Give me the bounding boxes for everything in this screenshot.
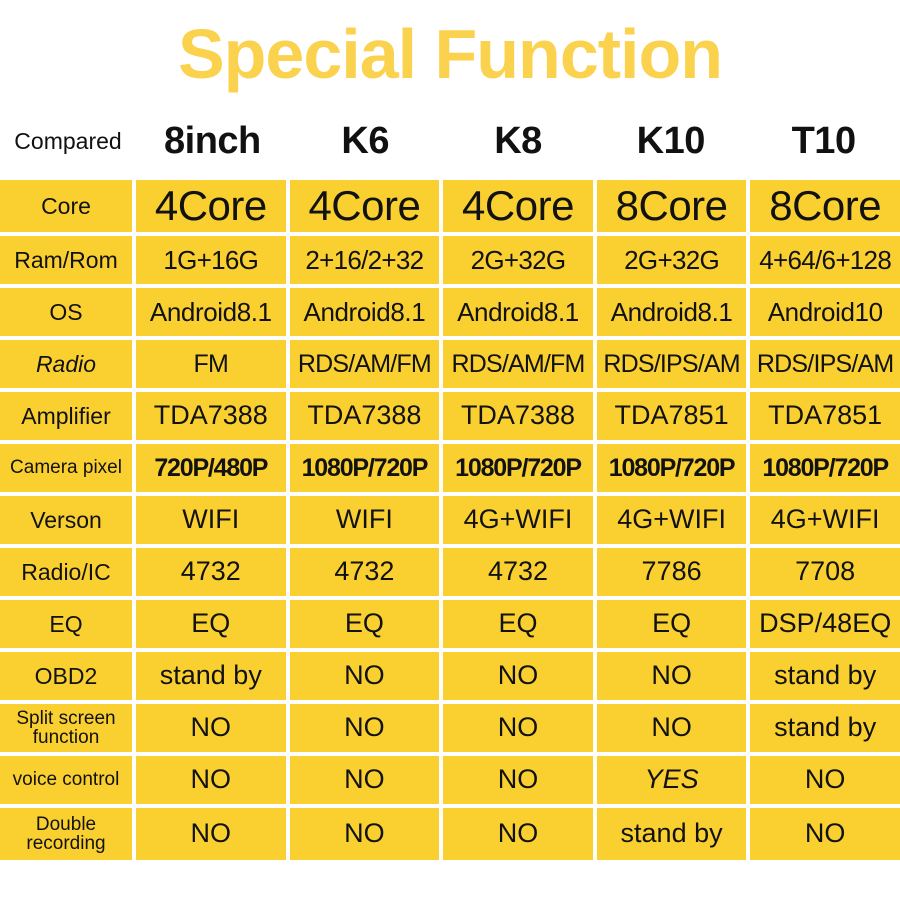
cell-camera-k8: 1080P/720P	[443, 444, 597, 492]
table-row: Core 4Core 4Core 4Core 8Core 8Core	[0, 180, 900, 236]
table-row: Amplifier TDA7388 TDA7388 TDA7388 TDA785…	[0, 392, 900, 444]
cell-camera-k10: 1080P/720P	[597, 444, 751, 492]
cell-doublerec-t10: NO	[750, 808, 900, 860]
cell-os-k8: Android8.1	[443, 288, 597, 336]
table-row: Camera pixel 720P/480P 1080P/720P 1080P/…	[0, 444, 900, 496]
cell-splitscreen-k6: NO	[290, 704, 444, 752]
cell-radioic-k10: 7786	[597, 548, 751, 596]
cell-eq-t10: DSP/48EQ	[750, 600, 900, 648]
table-row: EQ EQ EQ EQ EQ DSP/48EQ	[0, 600, 900, 652]
row-label-obd2: OBD2	[0, 652, 136, 700]
cell-splitscreen-8inch: NO	[136, 704, 290, 752]
cell-amplifier-k10: TDA7851	[597, 392, 751, 440]
row-label-ram-rom: Ram/Rom	[0, 236, 136, 284]
table-row: Verson WIFI WIFI 4G+WIFI 4G+WIFI 4G+WIFI	[0, 496, 900, 548]
cell-verson-k6: WIFI	[290, 496, 444, 544]
cell-voice-t10: NO	[750, 756, 900, 804]
table-header-row: Compared 8inch K6 K8 K10 T10	[0, 108, 900, 180]
cell-radioic-8inch: 4732	[136, 548, 290, 596]
cell-radio-k10: RDS/IPS/AM	[597, 340, 751, 388]
page-title-bar: Special Function	[0, 0, 900, 108]
cell-core-t10: 8Core	[750, 180, 900, 232]
cell-os-8inch: Android8.1	[136, 288, 290, 336]
cell-voice-k10: YES	[597, 756, 751, 804]
cell-core-k6: 4Core	[290, 180, 444, 232]
table-row: OBD2 stand by NO NO NO stand by	[0, 652, 900, 704]
cell-eq-k6: EQ	[290, 600, 444, 648]
special-function-comparison-page: Special Function Compared 8inch K6 K8 K1…	[0, 0, 900, 900]
cell-verson-k10: 4G+WIFI	[597, 496, 751, 544]
table-row: OS Android8.1 Android8.1 Android8.1 Andr…	[0, 288, 900, 340]
cell-ram-k10: 2G+32G	[597, 236, 751, 284]
row-label-amplifier: Amplifier	[0, 392, 136, 440]
row-label-split-screen-function: Split screen function	[0, 704, 136, 752]
row-label-os: OS	[0, 288, 136, 336]
cell-obd2-k8: NO	[443, 652, 597, 700]
cell-amplifier-k8: TDA7388	[443, 392, 597, 440]
cell-voice-k6: NO	[290, 756, 444, 804]
header-compared-label: Compared	[0, 108, 136, 180]
cell-ram-k8: 2G+32G	[443, 236, 597, 284]
table-row: Ram/Rom 1G+16G 2+16/2+32 2G+32G 2G+32G 4…	[0, 236, 900, 288]
row-label-core: Core	[0, 180, 136, 232]
cell-obd2-k10: NO	[597, 652, 751, 700]
cell-radio-k6: RDS/AM/FM	[290, 340, 444, 388]
row-label-radio: Radio	[0, 340, 136, 388]
cell-core-k8: 4Core	[443, 180, 597, 232]
cell-amplifier-8inch: TDA7388	[136, 392, 290, 440]
cell-radioic-k6: 4732	[290, 548, 444, 596]
row-label-line2: function	[16, 728, 115, 747]
cell-os-k10: Android8.1	[597, 288, 751, 336]
cell-ram-k6: 2+16/2+32	[290, 236, 444, 284]
table-row: Radio FM RDS/AM/FM RDS/AM/FM RDS/IPS/AM …	[0, 340, 900, 392]
cell-os-k6: Android8.1	[290, 288, 444, 336]
cell-doublerec-k6: NO	[290, 808, 444, 860]
row-label-voice-control: voice control	[0, 756, 136, 804]
row-label-line2: recording	[26, 834, 105, 853]
cell-camera-8inch: 720P/480P	[136, 444, 290, 492]
header-model-t10: T10	[747, 108, 900, 180]
cell-doublerec-8inch: NO	[136, 808, 290, 860]
header-model-k6: K6	[289, 108, 442, 180]
cell-radio-t10: RDS/IPS/AM	[750, 340, 900, 388]
row-label-eq: EQ	[0, 600, 136, 648]
header-model-k8: K8	[442, 108, 595, 180]
cell-verson-8inch: WIFI	[136, 496, 290, 544]
cell-eq-k8: EQ	[443, 600, 597, 648]
cell-radio-k8: RDS/AM/FM	[443, 340, 597, 388]
row-label-double-recording: Double recording	[0, 808, 136, 860]
cell-obd2-t10: stand by	[750, 652, 900, 700]
cell-radioic-k8: 4732	[443, 548, 597, 596]
cell-splitscreen-t10: stand by	[750, 704, 900, 752]
table-row: Split screen function NO NO NO NO stand …	[0, 704, 900, 756]
cell-voice-8inch: NO	[136, 756, 290, 804]
cell-ram-t10: 4+64/6+128	[750, 236, 900, 284]
cell-verson-k8: 4G+WIFI	[443, 496, 597, 544]
row-label-verson: Verson	[0, 496, 136, 544]
cell-core-8inch: 4Core	[136, 180, 290, 232]
header-model-8inch: 8inch	[136, 108, 289, 180]
cell-doublerec-k8: NO	[443, 808, 597, 860]
row-label-camera-pixel: Camera pixel	[0, 444, 136, 492]
cell-eq-k10: EQ	[597, 600, 751, 648]
table-row: Radio/IC 4732 4732 4732 7786 7708	[0, 548, 900, 600]
row-label-radio-ic: Radio/IC	[0, 548, 136, 596]
cell-radio-8inch: FM	[136, 340, 290, 388]
cell-camera-k6: 1080P/720P	[290, 444, 444, 492]
cell-camera-t10: 1080P/720P	[750, 444, 900, 492]
table-row: voice control NO NO NO YES NO	[0, 756, 900, 808]
comparison-table: Core 4Core 4Core 4Core 8Core 8Core Ram/R…	[0, 180, 900, 860]
cell-ram-8inch: 1G+16G	[136, 236, 290, 284]
row-label-line1: Double	[26, 815, 105, 834]
cell-doublerec-k10: stand by	[597, 808, 751, 860]
table-row: Double recording NO NO NO stand by NO	[0, 808, 900, 860]
cell-verson-t10: 4G+WIFI	[750, 496, 900, 544]
row-label-line1: Split screen	[16, 709, 115, 728]
page-title: Special Function	[178, 19, 722, 89]
cell-eq-8inch: EQ	[136, 600, 290, 648]
header-model-k10: K10	[594, 108, 747, 180]
cell-os-t10: Android10	[750, 288, 900, 336]
cell-amplifier-k6: TDA7388	[290, 392, 444, 440]
cell-radioic-t10: 7708	[750, 548, 900, 596]
cell-voice-k8: NO	[443, 756, 597, 804]
cell-splitscreen-k10: NO	[597, 704, 751, 752]
cell-core-k10: 8Core	[597, 180, 751, 232]
cell-obd2-8inch: stand by	[136, 652, 290, 700]
cell-obd2-k6: NO	[290, 652, 444, 700]
cell-splitscreen-k8: NO	[443, 704, 597, 752]
cell-amplifier-t10: TDA7851	[750, 392, 900, 440]
